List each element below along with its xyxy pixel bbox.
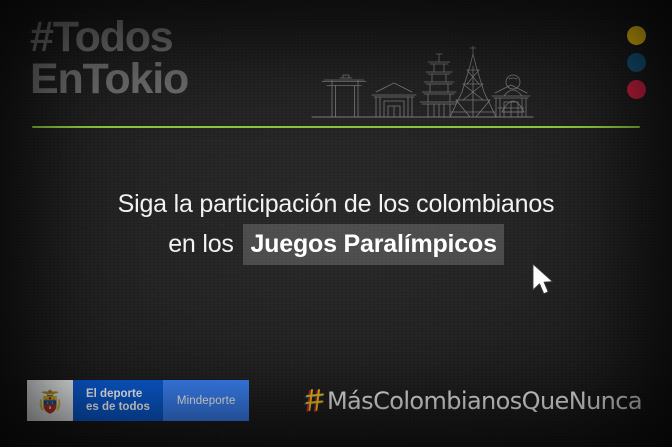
campaign-footer-hashtag: MásColombianosQueNunca [304, 387, 642, 415]
paralympics-highlight[interactable]: Juegos Paralímpicos [243, 224, 503, 265]
government-logo-bar: El deporte es de todos Mindeporte [27, 380, 249, 421]
flag-color-dots [627, 26, 646, 99]
dot-blue-icon [627, 53, 646, 72]
dot-yellow-icon [627, 26, 646, 45]
promo-message: Siga la participación de los colombianos… [0, 186, 672, 265]
message-line-2: en los Juegos Paralímpicos [0, 224, 672, 265]
tokyo-paralympics-promo-slide: #Todos EnTokio [0, 0, 672, 447]
mouse-pointer-icon [530, 262, 556, 298]
message-line-2-prefix: en los [168, 230, 240, 258]
tricolor-hash-icon [304, 388, 326, 414]
green-divider [32, 126, 640, 128]
dot-red-icon [627, 80, 646, 99]
message-line-1: Siga la participación de los colombianos [118, 190, 555, 218]
campaign-hashtag-title: #Todos EnTokio [30, 16, 188, 100]
gov-entity-mindeporte: Mindeporte [163, 380, 250, 421]
hashtag-footer-text: MásColombianosQueNunca [327, 387, 642, 415]
gov-slogan: El deporte es de todos [73, 380, 163, 421]
tokyo-skyline-icon [310, 40, 535, 122]
colombia-coat-of-arms-icon [27, 380, 73, 421]
